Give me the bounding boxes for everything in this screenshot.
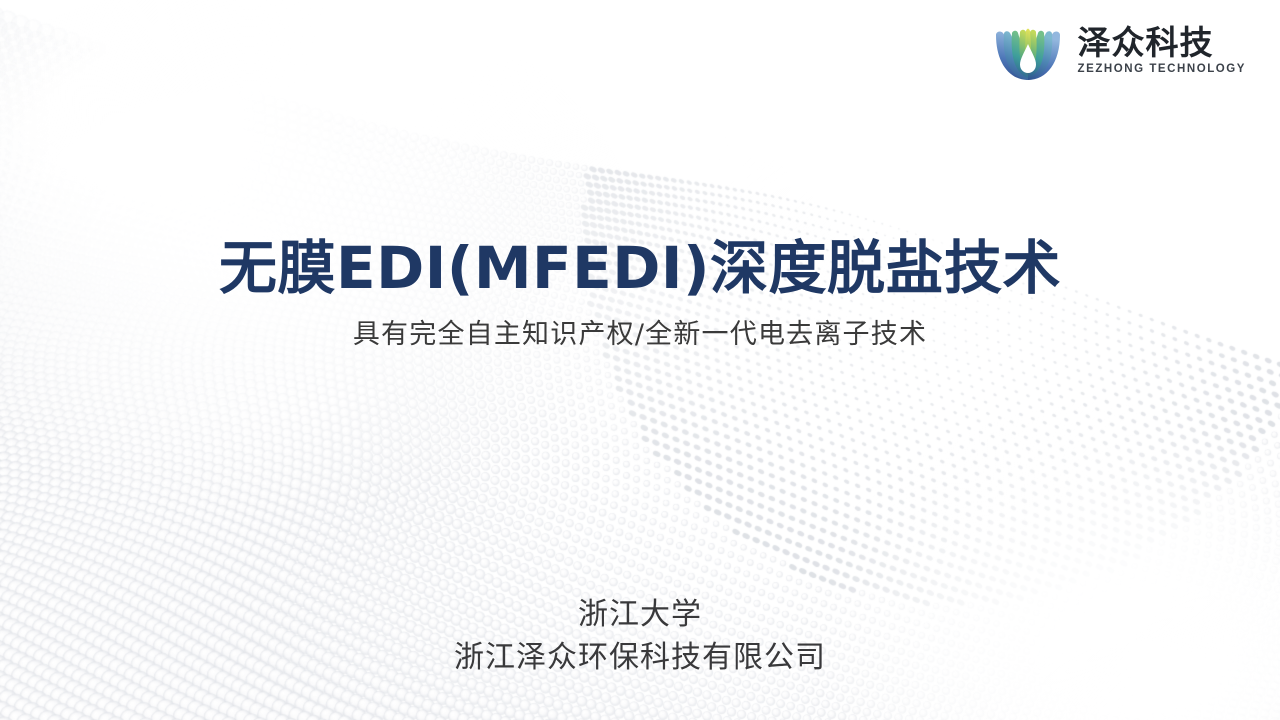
- zezhong-lotus-droplet-logo-icon: [991, 18, 1065, 84]
- title-slide: 泽众科技 ZEZHONG TECHNOLOGY 无膜EDI(MFEDI)深度脱盐…: [0, 0, 1280, 720]
- logo-wordmark: 泽众科技 ZEZHONG TECHNOLOGY: [1078, 26, 1246, 76]
- logo-company-name-cn: 泽众科技: [1078, 26, 1214, 59]
- slide-subtitle: 具有完全自主知识产权/全新一代电去离子技术: [0, 319, 1280, 351]
- attribution-block: 浙江大学 浙江泽众环保科技有限公司: [0, 597, 1280, 677]
- affiliation-company: 浙江泽众环保科技有限公司: [0, 639, 1280, 677]
- title-block: 无膜EDI(MFEDI)深度脱盐技术 具有完全自主知识产权/全新一代电去离子技术: [0, 236, 1280, 351]
- logo-company-name-en: ZEZHONG TECHNOLOGY: [1078, 64, 1246, 76]
- company-logo-lockup: 泽众科技 ZEZHONG TECHNOLOGY: [991, 18, 1246, 84]
- affiliation-university: 浙江大学: [0, 597, 1280, 634]
- slide-title: 无膜EDI(MFEDI)深度脱盐技术: [0, 236, 1280, 301]
